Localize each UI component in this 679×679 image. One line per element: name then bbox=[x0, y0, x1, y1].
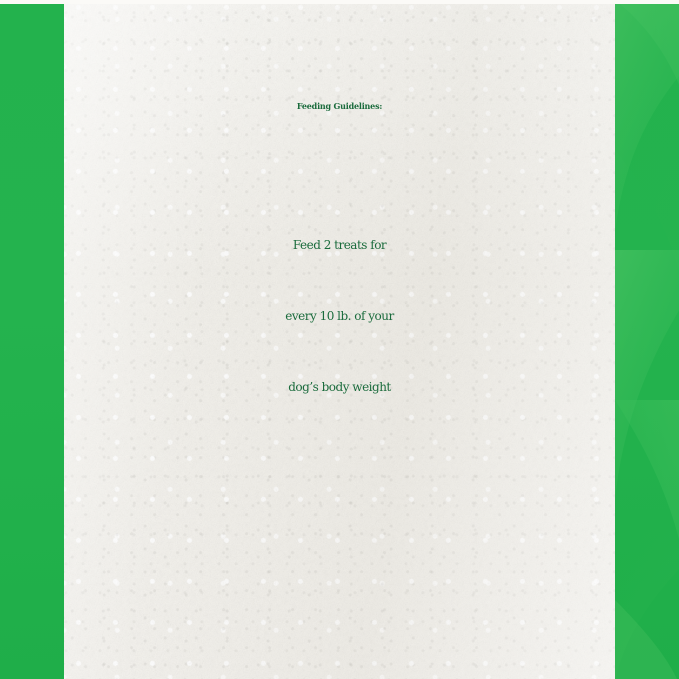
leaf-arc-pattern-right bbox=[615, 0, 679, 679]
band-left-base bbox=[0, 0, 64, 679]
feeding-guidelines-panel: Feeding Guidelines: Feed 2 treats for ev… bbox=[0, 0, 679, 679]
decorative-band-right bbox=[615, 0, 679, 679]
feeding-instructions: Feed 2 treats for every 10 lb. of your d… bbox=[64, 210, 615, 423]
instruction-line-1: Feed 2 treats for bbox=[64, 210, 615, 281]
decorative-band-left bbox=[0, 0, 64, 679]
top-edge-strip bbox=[0, 0, 679, 4]
instruction-line-3: dog’s body weight bbox=[64, 352, 615, 423]
page-title: Feeding Guidelines: bbox=[64, 102, 615, 111]
guidelines-content: Feeding Guidelines: Feed 2 treats for ev… bbox=[64, 0, 615, 679]
instruction-line-2: every 10 lb. of your bbox=[64, 281, 615, 352]
